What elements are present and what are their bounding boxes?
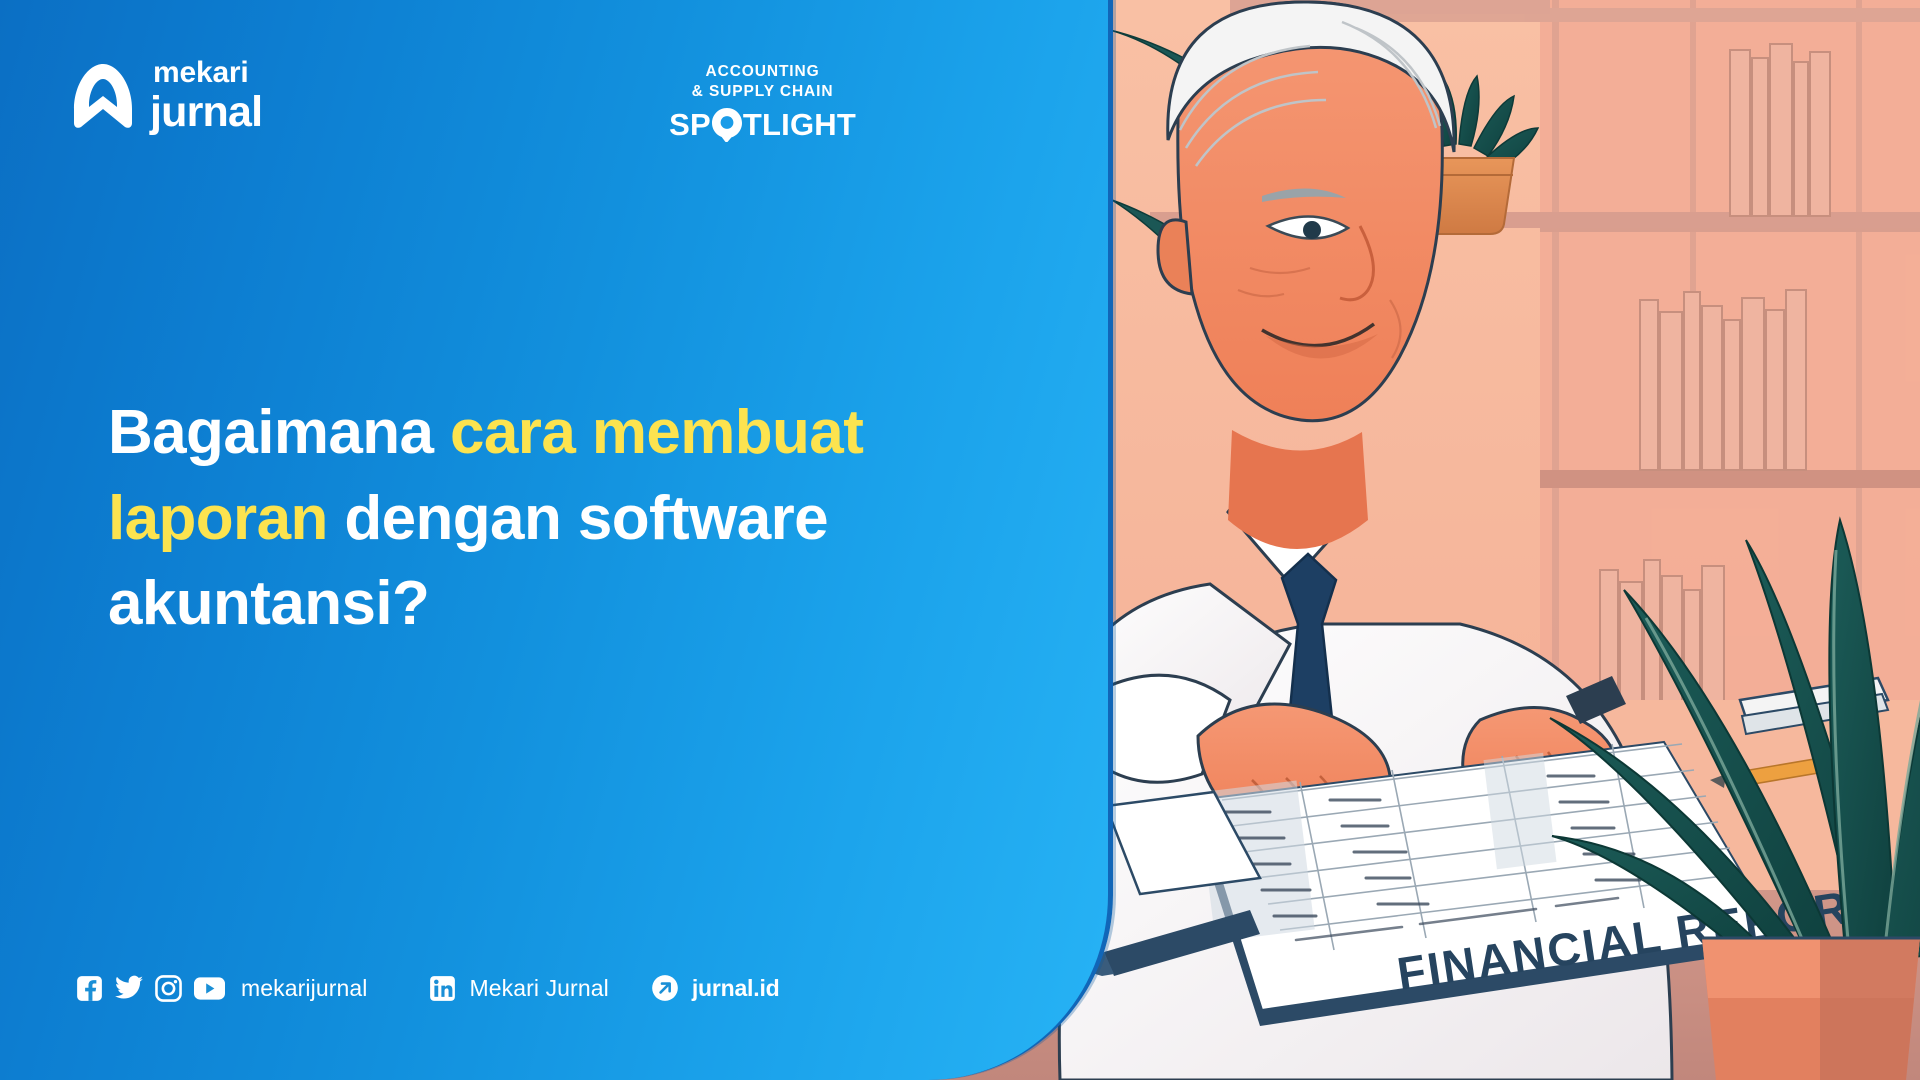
badge-spot-sp: SP bbox=[669, 109, 711, 140]
headline-part-1: Bagaimana bbox=[108, 398, 450, 467]
badge-spotlight-word: SP TLIGHT bbox=[669, 108, 856, 142]
social-handle-text: mekarijurnal bbox=[241, 975, 367, 1002]
spotlight-badge: ACCOUNTING & SUPPLY CHAIN SP TLIGHT bbox=[669, 62, 856, 142]
youtube-icon[interactable] bbox=[194, 975, 225, 1002]
website-icon-wrap bbox=[651, 974, 679, 1002]
social-icon-row bbox=[76, 975, 225, 1002]
linkedin-icon[interactable] bbox=[429, 975, 456, 1002]
magnifier-pin-icon bbox=[712, 108, 742, 142]
twitter-icon[interactable] bbox=[115, 975, 143, 1002]
social-media-banner: FINANCIAL REPORT bbox=[0, 0, 1920, 1080]
social-handles-group[interactable]: mekarijurnal bbox=[76, 975, 367, 1002]
arrow-link-icon[interactable] bbox=[651, 974, 679, 1002]
logo-word-mekari: mekari bbox=[153, 58, 262, 88]
badge-line-supply-chain: & SUPPLY CHAIN bbox=[669, 82, 856, 102]
mekari-a-mark-icon bbox=[72, 63, 134, 129]
linkedin-icon-wrap bbox=[429, 975, 456, 1002]
website-text: jurnal.id bbox=[692, 975, 780, 1002]
website-group[interactable]: jurnal.id bbox=[651, 974, 780, 1002]
page-title: Bagaimana cara membuat laporan dengan so… bbox=[108, 390, 1038, 647]
logo-word-jurnal: jurnal bbox=[150, 91, 262, 134]
badge-spot-tlight: TLIGHT bbox=[743, 109, 856, 140]
linkedin-group[interactable]: Mekari Jurnal bbox=[429, 975, 608, 1002]
facebook-icon[interactable] bbox=[76, 975, 103, 1002]
badge-line-accounting: ACCOUNTING bbox=[669, 62, 856, 82]
mekari-jurnal-logo[interactable]: mekari jurnal bbox=[72, 58, 262, 134]
linkedin-handle-text: Mekari Jurnal bbox=[469, 975, 608, 1002]
instagram-icon[interactable] bbox=[155, 975, 182, 1002]
left-blue-panel: mekari jurnal ACCOUNTING & SUPPLY CHAIN … bbox=[0, 0, 1113, 1080]
social-footer: mekarijurnal Mekari Jurnal bbox=[76, 974, 779, 1002]
